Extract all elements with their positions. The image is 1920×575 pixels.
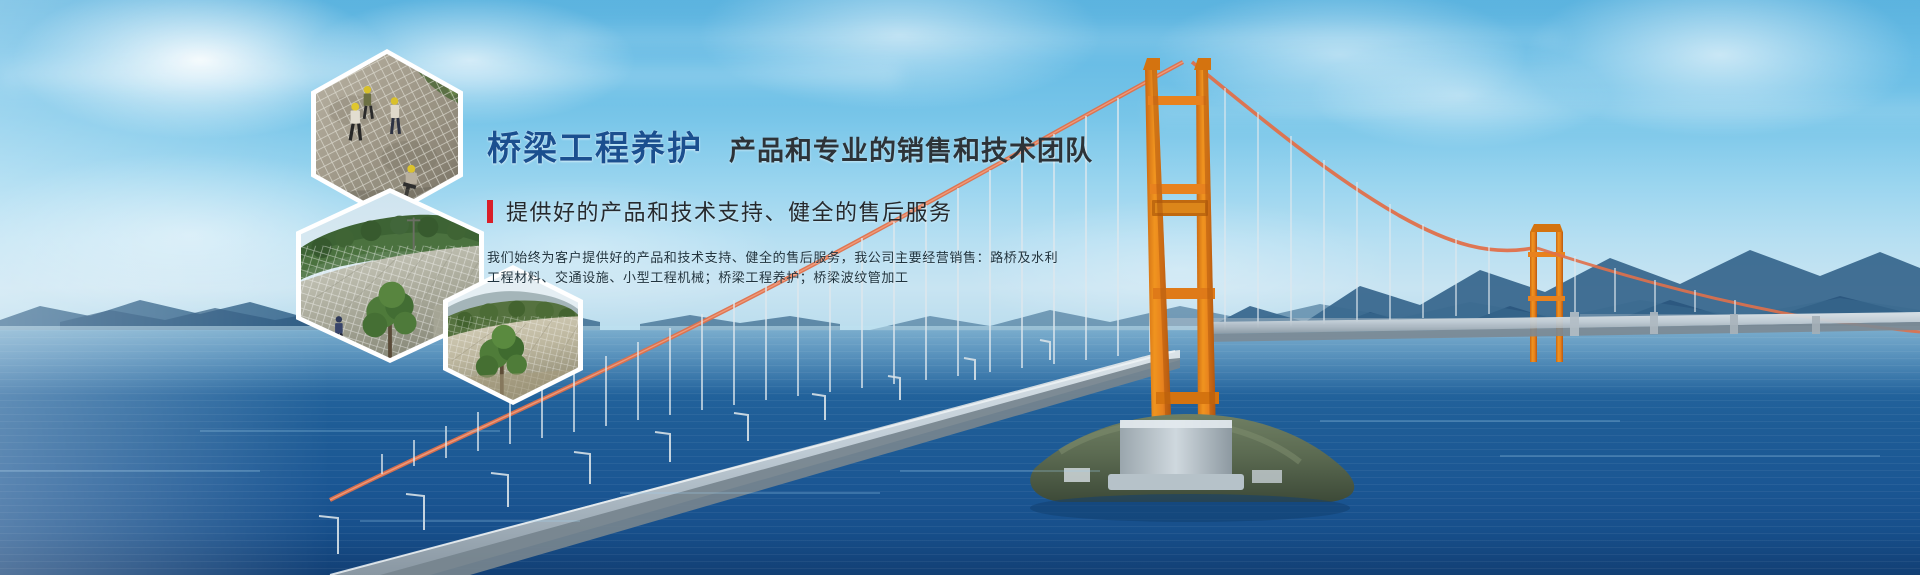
subheadline-text: 提供好的产品和技术支持、健全的售后服务 (506, 195, 953, 227)
subheadline-row: 提供好的产品和技术支持、健全的售后服务 (487, 195, 1247, 227)
banner-copy: 桥梁工程养护 产品和专业的销售和技术团队 提供好的产品和技术支持、健全的售后服务… (487, 121, 1247, 288)
roadside-slope-greening-image (448, 270, 578, 400)
hanger-cables-right (1225, 88, 1735, 330)
headline-row: 桥梁工程养护 产品和专业的销售和技术团队 (487, 121, 1247, 170)
description-line-1: 我们始终为客户提供好的产品和技术支持、健全的售后服务，我公司主要经营销售：路桥及… (487, 248, 1247, 268)
hero-banner: 桥梁工程养护 产品和专业的销售和技术团队 提供好的产品和技术支持、健全的售后服务… (0, 0, 1920, 575)
description-block: 我们始终为客户提供好的产品和技术支持、健全的售后服务，我公司主要经营销售：路桥及… (487, 248, 1247, 288)
tower-foundation-island (1030, 414, 1354, 522)
hex-photo-3-inner (448, 270, 578, 400)
headline-main: 桥梁工程养护 (487, 121, 703, 170)
headline-sub: 产品和专业的销售和技术团队 (729, 129, 1093, 168)
description-line-2: 工程材料、交通设施、小型工程机械；桥梁工程养护；桥梁波纹管加工 (487, 268, 1247, 288)
red-accent-bar (487, 200, 493, 223)
far-bridge-tower (1528, 224, 1565, 362)
